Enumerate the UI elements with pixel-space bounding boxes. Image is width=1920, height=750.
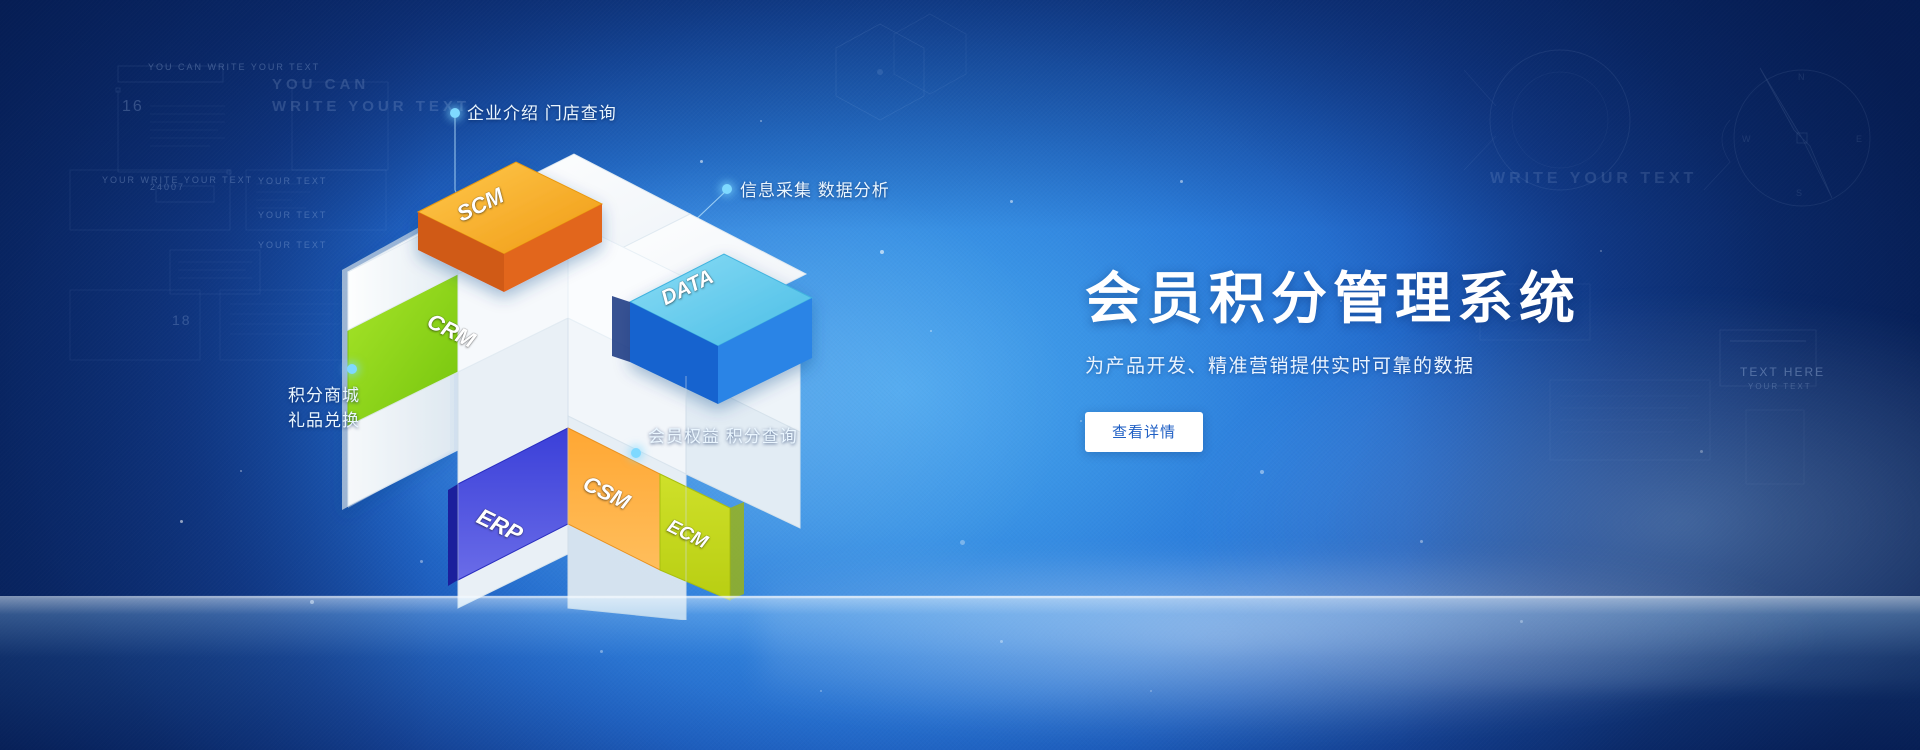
callout-left-bottom[interactable]: 积分商城 礼品兑换	[288, 383, 360, 433]
callout-top-right[interactable]: 信息采集 数据分析	[740, 176, 890, 201]
callout-top-left[interactable]: 企业介绍 门店查询	[467, 99, 617, 124]
banner-copy-block: 会员积分管理系统 为产品开发、精准营销提供实时可靠的数据 查看详情	[1085, 268, 1845, 452]
view-details-button[interactable]: 查看详情	[1085, 412, 1203, 452]
callout-dot-bottom	[631, 448, 641, 458]
callout-dot-top-right	[722, 184, 732, 194]
page-subtitle: 为产品开发、精准营销提供实时可靠的数据	[1085, 351, 1845, 378]
callout-dot-left-bottom	[347, 364, 357, 374]
cube-svg	[330, 150, 850, 620]
banner-stage: YOU CAN WRITE YOUR TEXT 16 YOU CAN WRITE…	[0, 0, 1920, 750]
callout-left-bottom-line2: 礼品兑换	[288, 408, 360, 433]
page-title: 会员积分管理系统	[1085, 268, 1845, 331]
callout-bottom[interactable]: 会员权益 积分查询	[648, 422, 798, 447]
ground-light-haze	[760, 560, 1920, 750]
callout-dot-top-left	[450, 108, 460, 118]
callout-left-bottom-line1: 积分商城	[288, 383, 360, 408]
rubiks-cube-illustration: SCM CRM DATA ERP CSM ECM	[330, 150, 850, 620]
